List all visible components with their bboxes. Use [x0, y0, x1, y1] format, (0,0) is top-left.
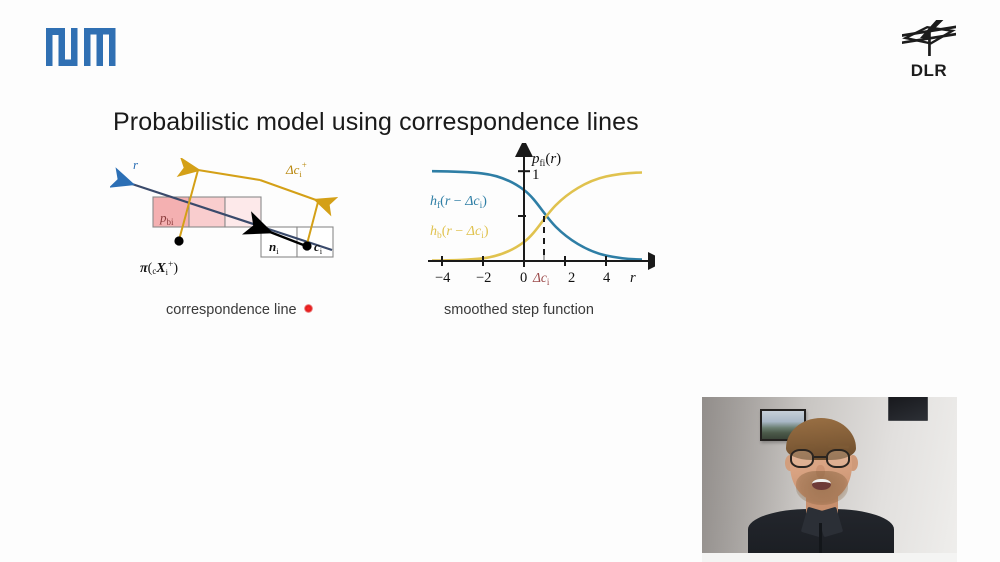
webcam-video-overlay[interactable]	[702, 397, 957, 562]
glasses-lens-right	[826, 449, 850, 468]
laser-pointer-dot	[304, 304, 313, 313]
glasses-bridge	[814, 456, 826, 458]
y-tick-label-1: 1	[532, 167, 540, 183]
figure-smoothed-step-function: pfi(r) 1 −4 −2 0 Δci 2 4 r hf(r − Δci) h…	[420, 143, 655, 288]
legend-h-b: hb(r − Δci)	[430, 224, 489, 241]
figure-correspondence-line: r pbi Δci+ π(cXi+) ni ci	[110, 158, 370, 283]
delta-arrow-left	[198, 170, 260, 180]
label-delta-c: Δci+	[285, 160, 307, 179]
x-tick-label-minus2: −2	[476, 270, 491, 286]
dlr-mark-icon	[900, 20, 958, 56]
tum-logo	[46, 28, 122, 66]
label-projection: π(cXi+)	[140, 260, 178, 277]
dlr-logo: DLR	[893, 20, 965, 78]
x-tick-label-delta: Δci	[532, 270, 550, 287]
label-ray: r	[133, 158, 139, 172]
dlr-logo-text: DLR	[893, 62, 965, 79]
delta-arrow-right	[260, 180, 316, 200]
desk-surface	[702, 553, 957, 562]
curve-h-b	[432, 173, 642, 261]
page-title: Probabilistic model using correspondence…	[113, 108, 639, 137]
x-tick-label-minus4: −4	[435, 270, 451, 286]
wall-monitor	[888, 397, 928, 421]
x-tick-label-2: 2	[568, 270, 575, 286]
caption-left-text: correspondence line	[166, 302, 297, 318]
caption-right: smoothed step function	[444, 302, 594, 318]
slide-canvas: DLR Probabilistic model using correspond…	[0, 0, 1000, 562]
contour-point	[302, 241, 311, 250]
x-tick-label-0: 0	[520, 270, 527, 286]
x-tick-label-4: 4	[603, 270, 611, 286]
x-axis-label: r	[630, 270, 636, 286]
projection-point	[174, 236, 183, 245]
glasses-lens-left	[790, 449, 814, 468]
curve-h-f	[432, 171, 642, 259]
speaker-mouth	[812, 479, 831, 490]
caption-left: correspondence line	[166, 302, 313, 318]
legend-h-f: hf(r − Δci)	[430, 194, 487, 211]
